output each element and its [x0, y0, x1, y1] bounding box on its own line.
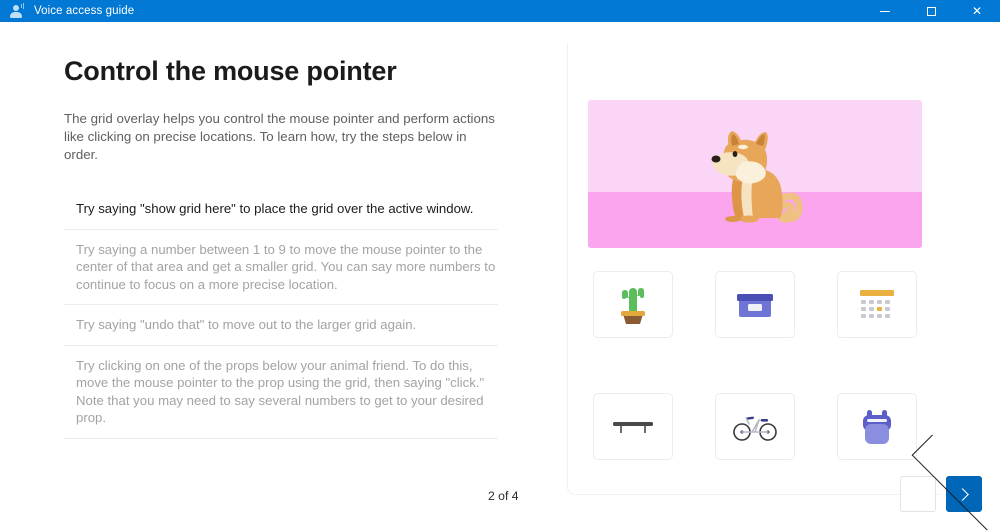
instruction-panel: Control the mouse pointer The grid overl…: [0, 22, 567, 530]
bicycle-prop[interactable]: [715, 393, 795, 460]
window-title: Voice access guide: [34, 5, 134, 17]
maximize-button[interactable]: [908, 0, 954, 22]
shelf-prop[interactable]: [593, 393, 673, 460]
calendar-icon: [858, 288, 896, 322]
previous-button[interactable]: [900, 476, 936, 512]
cactus-prop[interactable]: [593, 271, 673, 338]
page-indicator: 2 of 4: [488, 489, 519, 503]
backpack-icon: [861, 407, 893, 447]
storage-box-prop[interactable]: [715, 271, 795, 338]
step-item-3[interactable]: Try saying "undo that" to move out to th…: [64, 305, 498, 346]
calendar-prop[interactable]: [837, 271, 917, 338]
step-item-2[interactable]: Try saying a number between 1 to 9 to mo…: [64, 230, 498, 306]
props-grid: [588, 271, 922, 460]
page-title: Control the mouse pointer: [64, 56, 503, 87]
shiba-inu-dog-icon: [696, 128, 816, 228]
cactus-icon: [616, 284, 650, 326]
minimize-button[interactable]: [862, 0, 908, 22]
storage-box-icon: [735, 290, 775, 320]
step-item-1[interactable]: Try saying "show grid here" to place the…: [64, 189, 498, 230]
window-titlebar: Voice access guide ✕: [0, 0, 1000, 22]
voice-access-icon: [10, 3, 26, 19]
close-button[interactable]: ✕: [954, 0, 1000, 22]
chevron-left-icon: [912, 435, 1000, 530]
page-description: The grid overlay helps you control the m…: [64, 110, 499, 164]
minimize-icon: [880, 11, 890, 12]
step-item-4[interactable]: Try clicking on one of the props below y…: [64, 346, 498, 439]
window-controls: ✕: [862, 0, 1000, 22]
close-icon: ✕: [972, 5, 982, 17]
bicycle-icon: [732, 412, 778, 442]
backpack-prop[interactable]: [837, 393, 917, 460]
steps-list: Try saying "show grid here" to place the…: [64, 189, 498, 439]
footer-bar: 2 of 4: [0, 472, 1000, 530]
practice-card: [567, 43, 941, 495]
page-body: Control the mouse pointer The grid overl…: [0, 22, 1000, 530]
shiba-inu-dog-illustration: [588, 100, 922, 248]
shelf-icon: [611, 418, 655, 436]
maximize-icon: [927, 7, 936, 16]
navigation-buttons: [900, 476, 982, 512]
